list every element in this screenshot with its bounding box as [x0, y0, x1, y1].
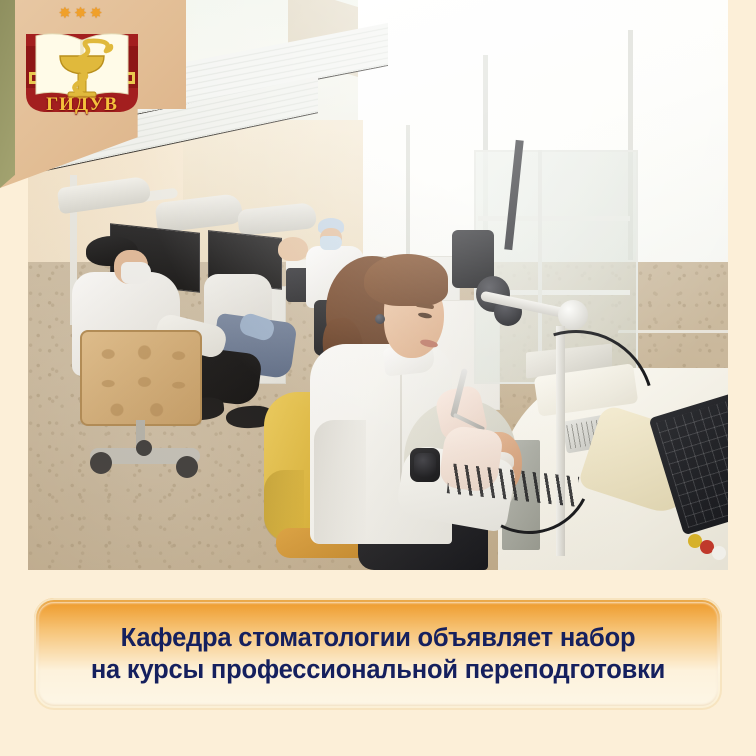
announcement-line-1: Кафедра стоматологии объявляет набор: [121, 622, 636, 654]
subject-coat-shading: [314, 420, 366, 544]
earring-icon: [375, 314, 385, 324]
chair-caster: [176, 456, 198, 478]
subject-hair-front: [364, 254, 448, 306]
face-mask-icon: [320, 236, 342, 250]
poster-root: ✸✸✸ ГИДУВ Кафедра стоматологии о: [0, 0, 756, 756]
phantom-head-mannequin: [278, 237, 308, 261]
logo-caption: ГИДУВ: [12, 94, 152, 116]
chair-caster: [90, 452, 112, 474]
chair-caster: [136, 440, 152, 456]
announcement-line-2: на курсы профессиональной переподготовки: [91, 654, 665, 686]
announcement-banner: Кафедра стоматологии объявляет набор на …: [34, 598, 722, 710]
logo-stars: ✸✸✸: [12, 6, 152, 21]
giduv-logo: ✸✸✸ ГИДУВ: [12, 6, 152, 122]
announcement-banner-inner: Кафедра стоматологии объявляет набор на …: [38, 602, 718, 706]
av-cable-plug: [712, 546, 726, 560]
glass-shelf: [478, 216, 630, 221]
smartwatch-screen: [414, 453, 436, 477]
wooden-chair-perforations: [84, 336, 194, 418]
face-mask-icon: [121, 262, 151, 284]
